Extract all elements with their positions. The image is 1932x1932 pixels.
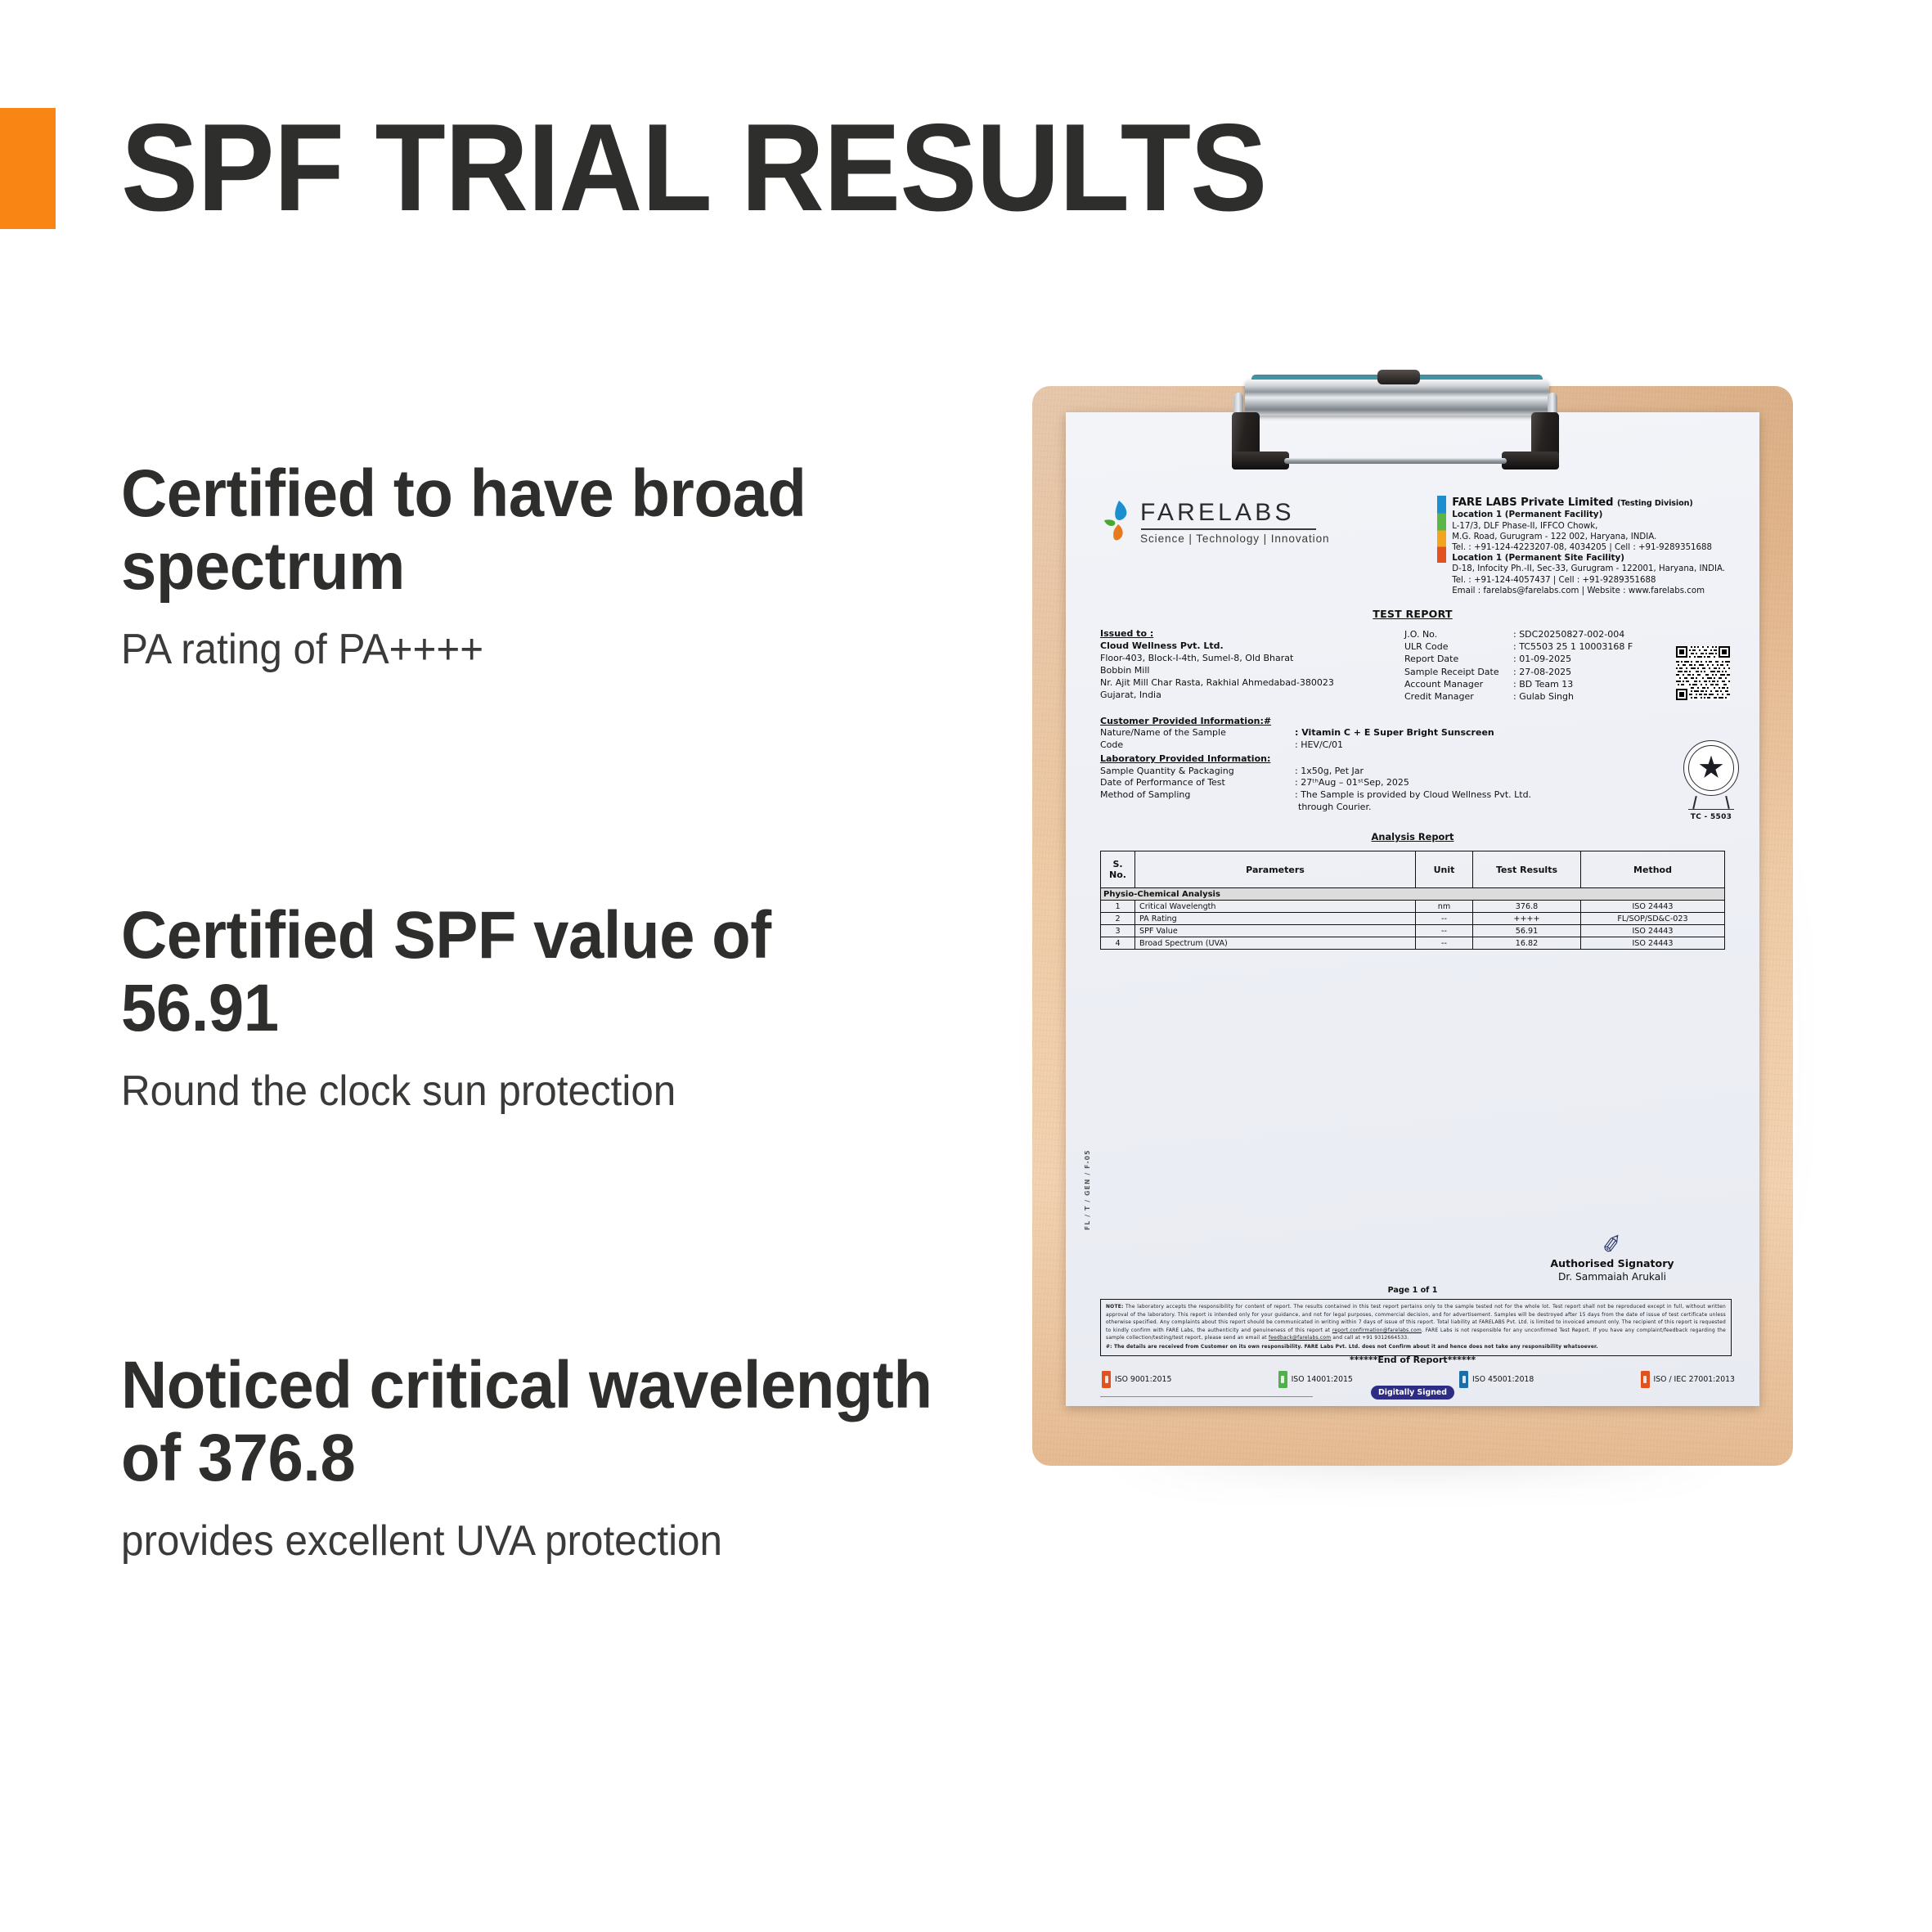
customer-info-row: Nature/Name of the Sample : Vitamin C + … (1100, 727, 1725, 739)
farelabs-wordmark: FARELABS (1140, 501, 1330, 525)
clip-foot-left (1232, 452, 1289, 470)
job-meta-key: Report Date (1404, 653, 1513, 665)
accent-bar (0, 108, 56, 229)
column-header-test-results: Test Results (1473, 851, 1581, 888)
table-body: Physio-Chemical Analysis 1 Critical Wave… (1101, 888, 1725, 950)
company-line-6: Tel. : +91-124-4057437 | Cell : +91-9289… (1452, 575, 1725, 586)
lab-info-row: Method of Sampling : The Sample is provi… (1100, 789, 1725, 802)
report-meta-row: Issued to : Cloud Wellness Pvt. Ltd. Flo… (1100, 628, 1725, 703)
cell-unit: -- (1416, 925, 1473, 937)
digitally-signed-badge: Digitally Signed (1371, 1386, 1454, 1400)
issued-to-address-0: Floor-403, Block-I-4th, Sumel-8, Old Bha… (1100, 653, 1404, 665)
issued-to-label: Issued to : (1100, 628, 1404, 640)
clip-thumb-grip[interactable] (1377, 370, 1420, 384)
job-meta-key: Sample Receipt Date (1404, 666, 1513, 678)
column-header-parameters: Parameters (1135, 851, 1416, 888)
table-section-row: Physio-Chemical Analysis (1101, 888, 1725, 901)
clip-foot-right (1502, 452, 1559, 470)
table-section-label: Physio-Chemical Analysis (1101, 888, 1725, 901)
feature-block-broad-spectrum: Certified to have broad spectrum PA rati… (121, 458, 988, 675)
cell-method: ISO 24443 (1581, 925, 1725, 937)
lab-info-heading: Laboratory Provided Information: (1100, 753, 1725, 766)
iso-badge-label: ISO 14001:2015 (1292, 1375, 1353, 1384)
feature-subtext: PA rating of PA++++ (121, 624, 945, 675)
note-body-3: and call at +91 9312664533. (1331, 1336, 1409, 1341)
column-header-sno: S. No. (1101, 851, 1135, 888)
table-row: 3 SPF Value -- 56.91 ISO 24443 (1101, 925, 1725, 937)
clip-wire (1284, 458, 1507, 464)
job-meta-value: : BD Team 13 (1513, 678, 1573, 690)
company-name: FARE LABS Private Limited (Testing Divis… (1452, 496, 1725, 510)
nabl-seal-legs (1687, 796, 1736, 809)
end-of-report-marker: ******End of Report****** (1066, 1355, 1759, 1365)
cell-sno: 1 (1101, 901, 1135, 913)
cell-result: 376.8 (1473, 901, 1581, 913)
cell-sno: 3 (1101, 925, 1135, 937)
cell-unit: nm (1416, 901, 1473, 913)
iso-badge-label: ISO / IEC 27001:2013 (1654, 1375, 1735, 1384)
iso-badge-icon (1102, 1371, 1111, 1388)
letterhead: FARELABS Science | Technology | Innovati… (1100, 491, 1725, 596)
provided-information-block: Customer Provided Information:# Nature/N… (1100, 716, 1725, 814)
nabl-seal-ring (1683, 740, 1739, 796)
job-meta-value: : 01-09-2025 (1513, 653, 1571, 665)
note-label: NOTE: (1106, 1305, 1124, 1310)
issued-to-address-1: Bobbin Mill (1100, 665, 1404, 677)
iso-badge-icon (1641, 1371, 1650, 1388)
nabl-code: TC - 5503 (1676, 812, 1746, 822)
note-link-feedback[interactable]: feedback@farelabs.com (1269, 1336, 1331, 1341)
droplet-svg (1100, 499, 1134, 546)
company-name-text: FARE LABS Private Limited (1452, 496, 1613, 509)
cell-sno: 4 (1101, 937, 1135, 950)
cell-parameter: PA Rating (1135, 913, 1416, 925)
feature-heading: Certified to have broad spectrum (121, 458, 945, 603)
note-footnote: #: The details are received from Custome… (1106, 1344, 1726, 1352)
signature-block: ✐ Authorised Signatory Dr. Sammaiah Aruk… (1489, 1237, 1735, 1283)
column-header-method: Method (1581, 851, 1725, 888)
job-meta-key: ULR Code (1404, 640, 1513, 653)
job-meta-row: J.O. No. : SDC20250827-002-004 (1404, 628, 1725, 640)
cell-parameter: SPF Value (1135, 925, 1416, 937)
feature-block-spf-value: Certified SPF value of 56.91 Round the c… (121, 900, 988, 1117)
cell-result: 16.82 (1473, 937, 1581, 950)
iso-badge-14001: ISO 14001:2015 (1278, 1371, 1353, 1388)
lab-info-row: Sample Quantity & Packaging : 1x50g, Pet… (1100, 766, 1725, 778)
cell-unit: -- (1416, 937, 1473, 950)
job-meta-value: : SDC20250827-002-004 (1513, 628, 1624, 640)
report-note-box: NOTE: The laboratory accepts the respons… (1100, 1299, 1732, 1356)
cell-parameter: Broad Spectrum (UVA) (1135, 937, 1416, 950)
job-meta-value: : TC5503 25 1 10003168 F (1513, 640, 1633, 653)
analysis-report-heading: Analysis Report (1100, 831, 1725, 842)
iso-badge-9001: ISO 9001:2015 (1102, 1371, 1171, 1388)
cell-sno: 2 (1101, 913, 1135, 925)
lab-info-key: Sample Quantity & Packaging (1100, 766, 1295, 778)
iso-badge-icon (1278, 1371, 1287, 1388)
issued-to-company: Cloud Wellness Pvt. Ltd. (1100, 640, 1404, 653)
lab-info-value: : 27ᵗʰAug – 01ˢᵗSep, 2025 (1295, 777, 1409, 789)
column-header-unit: Unit (1416, 851, 1473, 888)
table-row: 4 Broad Spectrum (UVA) -- 16.82 ISO 2444… (1101, 937, 1725, 950)
customer-info-row: Code : HEV/C/01 (1100, 739, 1725, 752)
company-line-4: Location 1 (Permanent Site Facility) (1452, 553, 1725, 564)
company-color-stripe (1437, 496, 1446, 563)
issued-to-block: Issued to : Cloud Wellness Pvt. Ltd. Flo… (1100, 628, 1404, 703)
job-meta-value: : Gulab Singh (1513, 690, 1574, 703)
qr-code-svg (1676, 646, 1730, 700)
clip-metal-bar (1245, 380, 1549, 416)
issued-to-address-3: Gujarat, India (1100, 690, 1404, 702)
feature-block-critical-wavelength: Noticed critical wavelength of 376.8 pro… (121, 1350, 988, 1566)
feature-subtext: provides excellent UVA protection (121, 1516, 945, 1566)
company-line-0: Location 1 (Permanent Facility) (1452, 510, 1725, 520)
company-line-3: Tel. : +91-124-4223207-08, 4034205 | Cel… (1452, 542, 1725, 553)
test-report-heading: TEST REPORT (1100, 608, 1725, 620)
company-line-1: L-17/3, DLF Phase-II, IFFCO Chowk, (1452, 521, 1725, 532)
company-line-2: M.G. Road, Gurugram - 122 002, Haryana, … (1452, 532, 1725, 542)
lab-info-value: : 1x50g, Pet Jar (1295, 766, 1364, 778)
customer-info-heading: Customer Provided Information:# (1100, 716, 1725, 728)
clipboard-clip[interactable] (1209, 370, 1582, 491)
job-meta-block: J.O. No. : SDC20250827-002-004 ULR Code … (1404, 628, 1725, 703)
lab-info-continuation: through Courier. (1295, 802, 1371, 814)
company-address-block: FARE LABS Private Limited (Testing Divis… (1437, 491, 1725, 596)
iso-badge-45001: ISO 45001:2018 (1459, 1371, 1534, 1388)
customer-info-key: Code (1100, 739, 1295, 752)
note-link-confirmation[interactable]: report.confirmation@farelabs.com (1332, 1328, 1422, 1333)
job-meta-value: : 27-08-2025 (1513, 666, 1571, 678)
job-meta-key: J.O. No. (1404, 628, 1513, 640)
customer-info-key: Nature/Name of the Sample (1100, 727, 1295, 739)
lab-info-row: Date of Performance of Test : 27ᵗʰAug – … (1100, 777, 1725, 789)
company-line-5: D-18, Infocity Ph.-II, Sec-33, Gurugram … (1452, 564, 1725, 574)
issued-to-address-2: Nr. Ajit Mill Char Rasta, Rakhial Ahmeda… (1100, 677, 1404, 690)
iso-badge-label: ISO 45001:2018 (1472, 1375, 1534, 1384)
table-row: 2 PA Rating -- ++++ FL/SOP/SD&C-023 (1101, 913, 1725, 925)
cell-method: ISO 24443 (1581, 901, 1725, 913)
table-head: S. No. Parameters Unit Test Results Meth… (1101, 851, 1725, 888)
nabl-star-icon (1699, 756, 1723, 780)
job-meta-key: Credit Manager (1404, 690, 1513, 703)
lab-info-key: Method of Sampling (1100, 789, 1295, 802)
nabl-seal-base (1688, 809, 1734, 811)
feature-subtext: Round the clock sun protection (121, 1066, 945, 1117)
analysis-results-table: S. No. Parameters Unit Test Results Meth… (1100, 851, 1725, 950)
lab-info-continuation-row: through Courier. (1100, 802, 1725, 814)
feature-heading: Certified SPF value of 56.91 (121, 900, 945, 1045)
farelabs-tagline: Science | Technology | Innovation (1140, 533, 1330, 545)
cell-result: 56.91 (1473, 925, 1581, 937)
cell-result: ++++ (1473, 913, 1581, 925)
cell-method: ISO 24443 (1581, 937, 1725, 950)
test-report-document: FARELABS Science | Technology | Innovati… (1066, 412, 1759, 1406)
cell-unit: -- (1416, 913, 1473, 925)
table-row: 1 Critical Wavelength nm 376.8 ISO 24443 (1101, 901, 1725, 913)
page-title: SPF TRIAL RESULTS (121, 97, 1266, 240)
iso-badge-27001: ISO / IEC 27001:2013 (1641, 1371, 1735, 1388)
farelabs-logo: FARELABS Science | Technology | Innovati… (1100, 491, 1330, 546)
document-body: FARELABS Science | Technology | Innovati… (1100, 491, 1725, 950)
table-header-row: S. No. Parameters Unit Test Results Meth… (1101, 851, 1725, 888)
qr-code (1676, 646, 1730, 700)
page-header: SPF TRIAL RESULTS (0, 108, 1932, 229)
farelabs-droplet-icon (1100, 499, 1134, 546)
signatory-name: Dr. Sammaiah Arukali (1489, 1271, 1735, 1283)
feature-heading: Noticed critical wavelength of 376.8 (121, 1350, 945, 1494)
cell-parameter: Critical Wavelength (1135, 901, 1416, 913)
job-meta-key: Account Manager (1404, 678, 1513, 690)
iso-badge-label: ISO 9001:2015 (1115, 1375, 1171, 1384)
document-bottom-rule (1100, 1396, 1313, 1397)
company-division: (Testing Division) (1617, 499, 1693, 508)
farelabs-wordmark-block: FARELABS Science | Technology | Innovati… (1140, 501, 1330, 544)
iso-badge-icon (1459, 1371, 1468, 1388)
logo-divider (1141, 528, 1316, 530)
customer-info-value: : Vitamin C + E Super Bright Sunscreen (1295, 727, 1494, 739)
document-form-code: FL / T / GEN / F-05 (1084, 1149, 1091, 1230)
nabl-accreditation-seal: TC - 5503 (1676, 740, 1746, 823)
page-number: Page 1 of 1 (1066, 1286, 1759, 1295)
lab-info-key: Date of Performance of Test (1100, 777, 1295, 789)
cell-method: FL/SOP/SD&C-023 (1581, 913, 1725, 925)
company-line-7: Email : farelabs@farelabs.com | Website … (1452, 586, 1725, 596)
spacer (1100, 802, 1295, 814)
company-address-lines: FARE LABS Private Limited (Testing Divis… (1452, 496, 1725, 596)
customer-info-value: : HEV/C/01 (1295, 739, 1343, 752)
lab-info-value: : The Sample is provided by Cloud Wellne… (1295, 789, 1531, 802)
